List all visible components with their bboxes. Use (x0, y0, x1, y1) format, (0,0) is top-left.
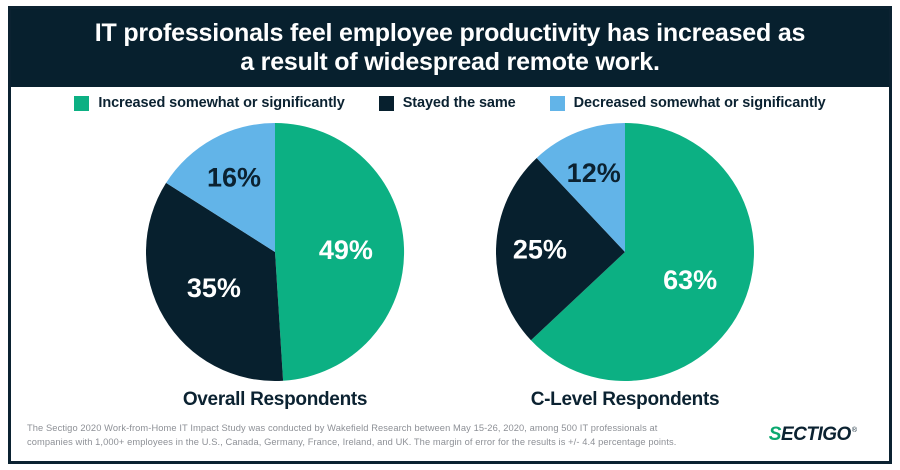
footer: The Sectigo 2020 Work-from-Home IT Impac… (11, 413, 889, 461)
legend-swatch-same-icon (379, 96, 394, 111)
sectigo-logo: S ECTIGO ® (769, 424, 857, 446)
legend-label-decreased: Decreased somewhat or significantly (574, 95, 826, 111)
sectigo-logo-text: ECTIGO (781, 424, 851, 446)
legend-label-same: Stayed the same (403, 95, 516, 111)
sectigo-logo-mark-icon: S (769, 424, 781, 446)
infographic-root: IT professionals feel employee productiv… (0, 0, 900, 470)
pie-chart-overall-svg: 49%35%16% (144, 121, 406, 383)
legend-label-increased: Increased somewhat or significantly (98, 95, 344, 111)
charts-container: 49%35%16% Overall Respondents 63%25%12% … (11, 121, 889, 411)
pie-chart-clevel-caption: C-Level Respondents (475, 389, 775, 411)
page-title: IT professionals feel employee productiv… (55, 19, 846, 78)
footnote-text: The Sectigo 2020 Work-from-Home IT Impac… (27, 421, 676, 450)
pie-slice-label: 12% (567, 158, 621, 188)
pie-slice-label: 63% (663, 265, 717, 295)
pie-slice-label: 16% (207, 162, 261, 192)
pie-slice-label: 35% (187, 273, 241, 303)
pie-chart-overall: 49%35%16% Overall Respondents (125, 121, 425, 411)
pie-chart-overall-caption: Overall Respondents (125, 389, 425, 411)
sectigo-logo-trademark-icon: ® (852, 427, 857, 434)
header-banner: IT professionals feel employee productiv… (11, 9, 889, 87)
legend-swatch-decreased-icon (550, 96, 565, 111)
infographic-frame: IT professionals feel employee productiv… (8, 6, 892, 464)
legend-item-decreased: Decreased somewhat or significantly (550, 95, 826, 111)
legend-item-increased: Increased somewhat or significantly (74, 95, 344, 111)
pie-slice-label: 25% (513, 234, 567, 264)
pie-slice-label: 49% (319, 235, 373, 265)
pie-chart-clevel: 63%25%12% C-Level Respondents (475, 121, 775, 411)
chart-legend: Increased somewhat or significantly Stay… (11, 95, 889, 111)
legend-item-same: Stayed the same (379, 95, 516, 111)
legend-swatch-increased-icon (74, 96, 89, 111)
pie-chart-clevel-svg: 63%25%12% (494, 121, 756, 383)
